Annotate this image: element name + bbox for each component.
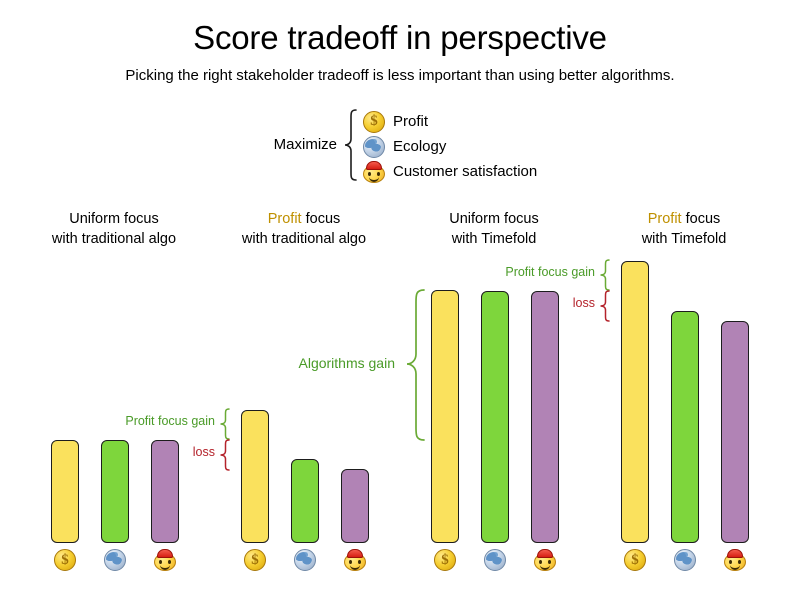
- group-label-profit-timefold: Profit focus with Timefold: [574, 209, 794, 249]
- bar-g4-profit[interactable]: [621, 261, 649, 543]
- curly-brace-icon: [343, 109, 359, 181]
- axis-icon-profit-g2: [244, 549, 266, 571]
- bar-g4-ecology[interactable]: [671, 311, 699, 543]
- bar-g2-profit[interactable]: [241, 410, 269, 543]
- group-label-focus-suffix: focus: [120, 211, 159, 227]
- brace-g3-algorithms-gain-icon: [405, 289, 427, 441]
- group-label-uniform-timefold: Uniform focus with Timefold: [384, 209, 604, 249]
- annotation-g2-loss: loss: [120, 444, 215, 460]
- profit-coin-icon: [363, 111, 385, 133]
- axis-icon-profit-g1: [54, 549, 76, 571]
- legend-item-ecology: Ecology: [363, 134, 446, 159]
- legend: Maximize Profit Ecology Customer satisfa…: [255, 105, 575, 185]
- brace-g2-loss-icon: [219, 439, 231, 471]
- legend-item-label: Customer satisfaction: [393, 162, 537, 182]
- group-label-algo: with traditional algo: [4, 229, 224, 249]
- group-label-algo: with Timefold: [574, 229, 794, 249]
- axis-icon-customer-g3: [534, 549, 556, 571]
- bar-g3-ecology[interactable]: [481, 291, 509, 543]
- legend-item-profit: Profit: [363, 109, 428, 134]
- bar-g4-customer[interactable]: [721, 321, 749, 543]
- brace-g4-loss-icon: [599, 290, 611, 322]
- ecology-globe-icon: [363, 136, 385, 158]
- annotation-g3-algorithms-gain: Algorithms gain: [180, 355, 395, 371]
- annotation-g4-profit-focus-gain: Profit focus gain: [380, 264, 595, 280]
- bar-g3-profit[interactable]: [431, 290, 459, 543]
- axis-icon-ecology-g2: [294, 549, 316, 571]
- brace-g4-gain-icon: [599, 259, 611, 291]
- brace-g2-gain-icon: [219, 408, 231, 440]
- page-title: Score tradeoff in perspective: [0, 18, 800, 58]
- bar-g2-customer[interactable]: [341, 469, 369, 543]
- group-label-focus: Profit: [268, 211, 302, 227]
- bar-g1-profit[interactable]: [51, 440, 79, 543]
- bar-g3-customer[interactable]: [531, 291, 559, 543]
- group-label-focus: Uniform: [69, 211, 120, 227]
- axis-icon-ecology-g1: [104, 549, 126, 571]
- group-label-focus: Uniform: [449, 211, 500, 227]
- legend-item-customer: Customer satisfaction: [363, 159, 537, 184]
- axis-icon-customer-g1: [154, 549, 176, 571]
- group-label-algo: with Timefold: [384, 229, 604, 249]
- axis-icon-profit-g3: [434, 549, 456, 571]
- legend-title: Maximize: [255, 135, 337, 155]
- axis-icon-customer-g4: [724, 549, 746, 571]
- group-label-focus: Profit: [648, 211, 682, 227]
- axis-icon-profit-g4: [624, 549, 646, 571]
- annotation-g2-profit-focus-gain: Profit focus gain: [0, 413, 215, 429]
- axis-icon-ecology-g4: [674, 549, 696, 571]
- group-label-focus-suffix: focus: [682, 211, 721, 227]
- axis-icon-ecology-g3: [484, 549, 506, 571]
- chart-canvas: Score tradeoff in perspective Picking th…: [0, 0, 800, 600]
- group-label-algo: with traditional algo: [194, 229, 414, 249]
- customer-smiley-icon: [363, 161, 385, 183]
- axis-icon-customer-g2: [344, 549, 366, 571]
- annotation-g4-loss: loss: [500, 295, 595, 311]
- group-label-uniform-traditional: Uniform focus with traditional algo: [4, 209, 224, 249]
- group-label-focus-suffix: focus: [500, 211, 539, 227]
- group-label-focus-suffix: focus: [302, 211, 341, 227]
- legend-item-label: Ecology: [393, 137, 446, 157]
- group-label-profit-traditional: Profit focus with traditional algo: [194, 209, 414, 249]
- bar-g2-ecology[interactable]: [291, 459, 319, 543]
- legend-item-label: Profit: [393, 112, 428, 132]
- page-subtitle: Picking the right stakeholder tradeoff i…: [0, 66, 800, 86]
